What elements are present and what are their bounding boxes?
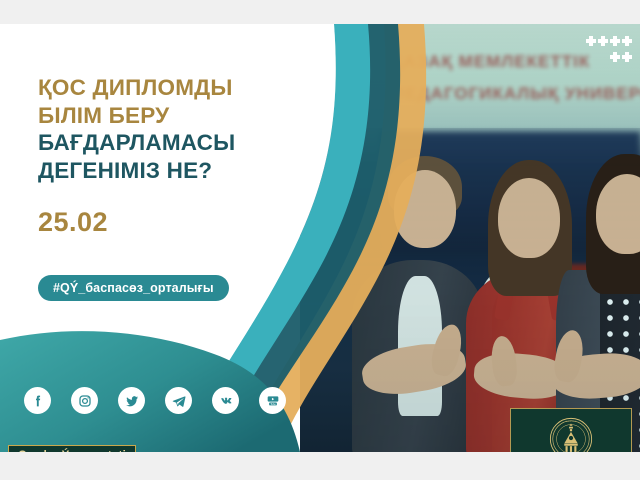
facebook-icon [30,393,46,409]
page-title: ҚОС ДИПЛОМДЫ БІЛІМ БЕРУ БАҒДАРЛАМАСЫ ДЕГ… [38,74,308,184]
youtube-icon: Tube [265,393,281,409]
social-link-telegram[interactable] [165,387,192,414]
hashtag-label: #QÝ_баспасөз_орталығы [53,281,214,295]
social-link-youtube[interactable]: Tube [259,387,286,414]
headline-line-1: ҚОС ДИПЛОМДЫ [38,74,308,102]
social-link-instagram[interactable] [71,387,98,414]
event-banner: ҚАЗАҚ МЕМЛЕКЕТТІК ПЕДАГОГИКАЛЫҚ УНИВЕРСИ… [0,24,640,452]
page-band-top [0,0,640,24]
twitter-icon [124,393,140,409]
vk-icon [217,392,234,409]
page-band-bottom [0,452,640,480]
hashtag-badge[interactable]: #QÝ_баспасөз_орталығы [38,275,229,301]
plus-dot-grid-decoration [586,36,632,64]
instagram-icon [77,393,93,409]
headline-line-4: ДЕГЕНІМІЗ НЕ? [38,157,308,185]
social-link-vk[interactable] [212,387,239,414]
svg-text:• • • • •: • • • • • [566,421,576,423]
university-logo-plaque: • • • • • www.kazmkpu.kz [510,408,632,452]
telegram-icon [171,393,187,409]
university-name-badge: Qyzdar Ýnıversıteti [8,445,136,452]
headline-line-3: БАҒДАРЛАМАСЫ [38,129,308,157]
poster-root: ҚАЗАҚ МЕМЛЕКЕТТІК ПЕДАГОГИКАЛЫҚ УНИВЕРСИ… [0,0,640,480]
social-link-twitter[interactable] [118,387,145,414]
event-date: 25.02 [38,207,108,238]
social-link-facebook[interactable] [24,387,51,414]
svg-text:Tube: Tube [270,402,276,405]
social-links: Tube [24,387,286,414]
headline-line-2: БІЛІМ БЕРУ [38,102,308,130]
university-seal-icon: • • • • • [549,417,593,453]
